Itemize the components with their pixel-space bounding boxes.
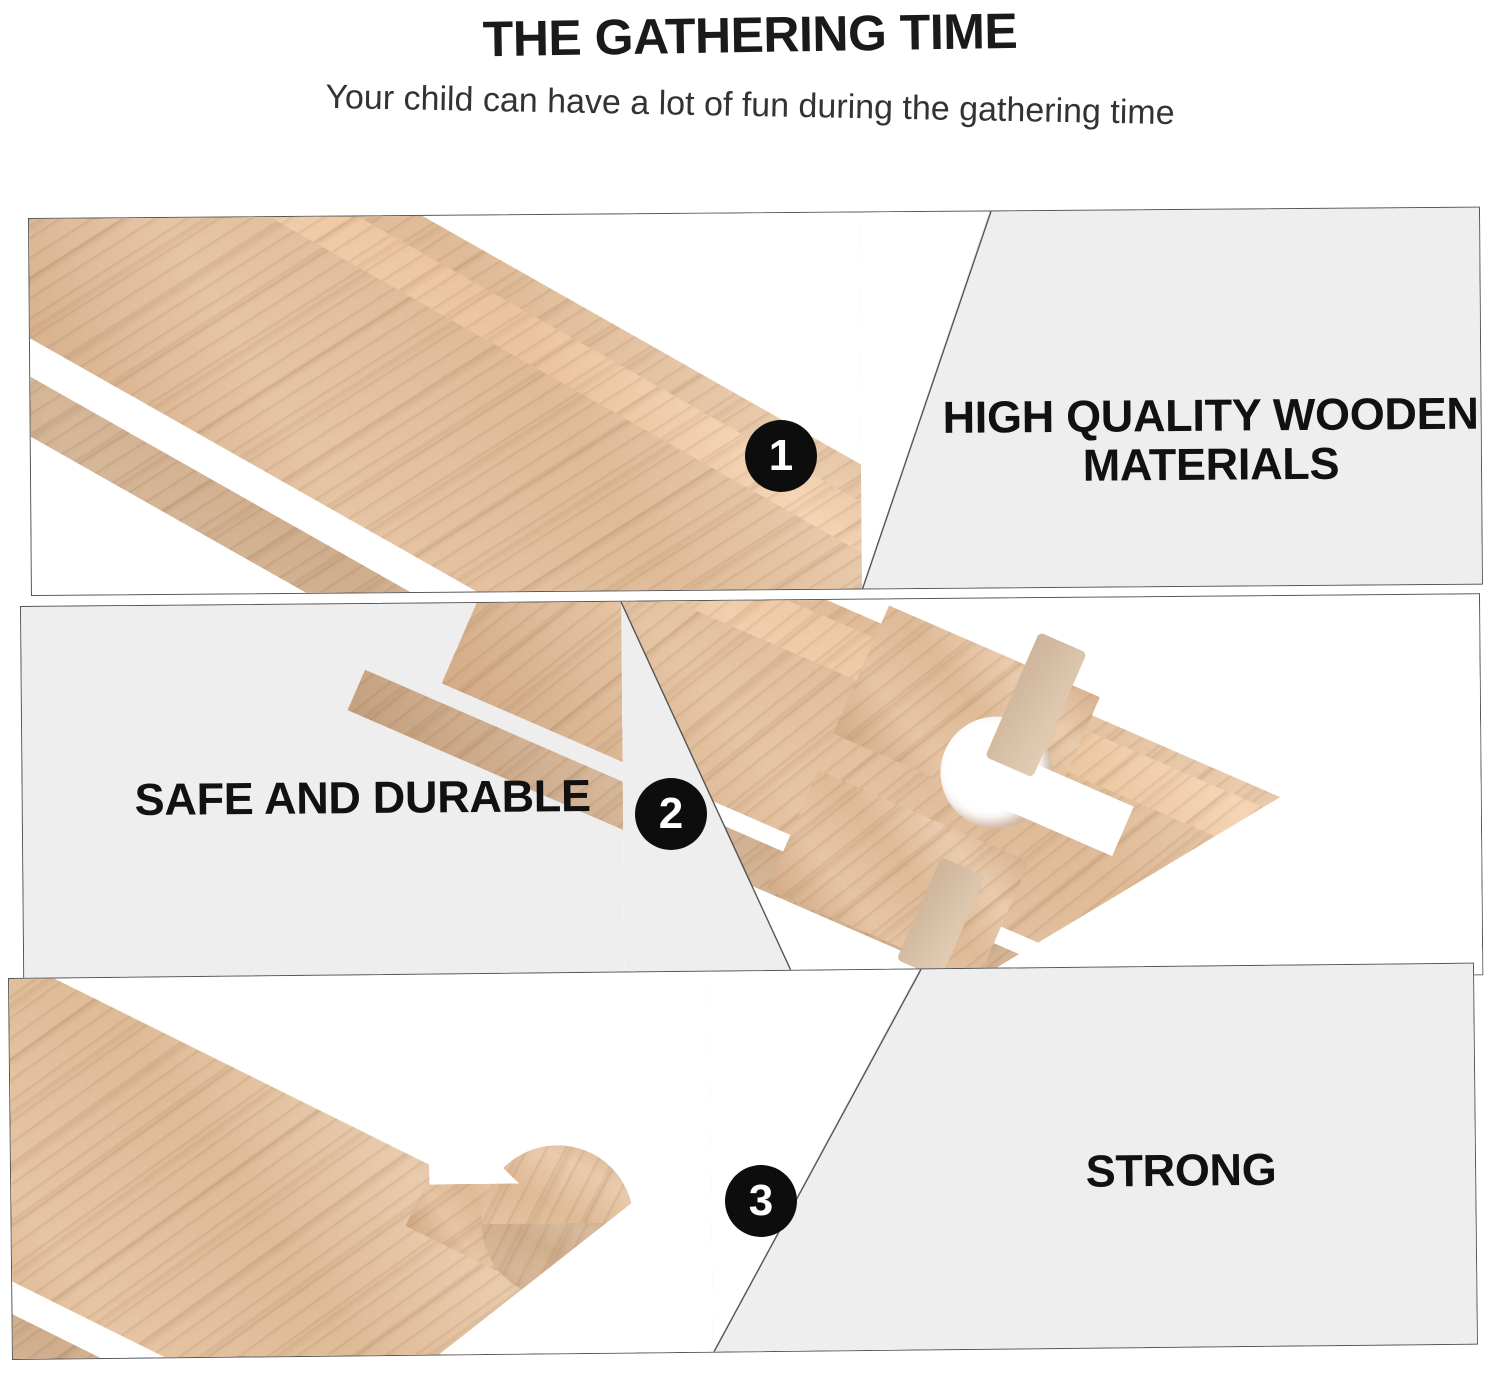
panel-1-heading: HIGH QUALITY WOODEN MATERIALS xyxy=(910,389,1483,491)
header: THE GATHERING TIME Your child can have a… xyxy=(0,0,1500,190)
panel-2-heading: SAFE AND DURABLE xyxy=(62,771,662,825)
step-badge-3: 3 xyxy=(725,1165,797,1237)
feature-panel-2: SAFE AND DURABLE xyxy=(20,593,1483,988)
panel-1-image-area xyxy=(29,212,932,595)
page-title: THE GATHERING TIME xyxy=(0,0,1500,76)
wood-peg-notch xyxy=(428,1094,519,1185)
panel-3-diagonal-divider xyxy=(709,969,925,1353)
feature-panel-1: HIGH QUALITY WOODEN MATERIALS xyxy=(28,207,1483,596)
feature-panel-3: STRONG xyxy=(8,963,1478,1360)
step-badge-2: 2 xyxy=(635,778,707,850)
step-badge-1: 1 xyxy=(745,420,817,492)
infographic-root: THE GATHERING TIME Your child can have a… xyxy=(0,0,1500,1394)
panel-3-heading: STRONG xyxy=(971,1145,1391,1198)
page-subtitle: Your child can have a lot of fun during … xyxy=(0,72,1500,140)
